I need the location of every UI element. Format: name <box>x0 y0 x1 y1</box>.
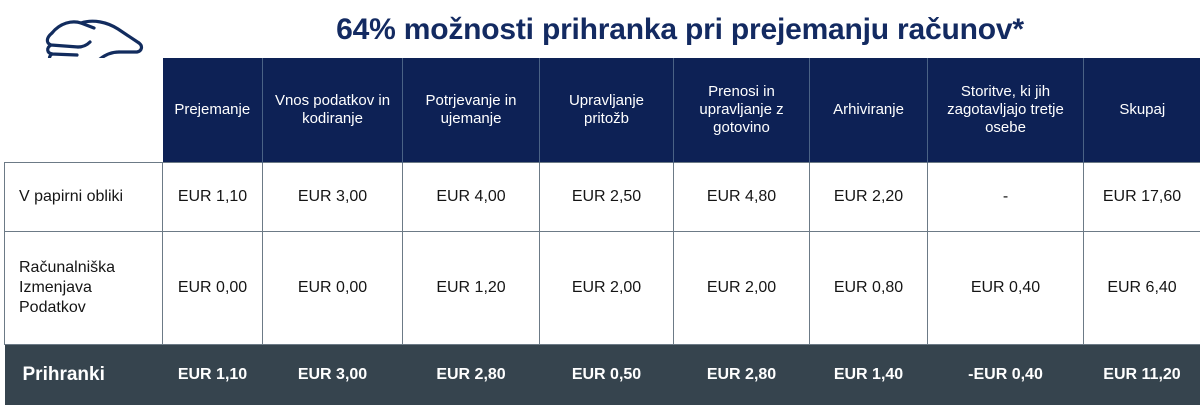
cell-prihranki-pritozbe: EUR 0,50 <box>540 345 674 405</box>
cell-prihranki-prejemanje: EUR 1,10 <box>163 345 263 405</box>
cell-prihranki-skupaj: EUR 11,20 <box>1084 345 1200 405</box>
cell-prihranki-vnos: EUR 3,00 <box>263 345 403 405</box>
table-header-row: Prejemanje Vnos podatkov in kodiranje Po… <box>5 58 1200 163</box>
header-cell-prejemanje: Prejemanje <box>163 58 263 163</box>
cell-papirna-storitve: - <box>928 163 1084 232</box>
cell-edi-prejemanje: EUR 0,00 <box>163 232 263 345</box>
cell-papirna-arhiviranje: EUR 2,20 <box>810 163 928 232</box>
cell-edi-arhiviranje: EUR 0,80 <box>810 232 928 345</box>
page-title: 64% možnosti prihranka pri prejemanju ra… <box>163 6 1197 54</box>
header-cell-arhiviranje: Arhiviranje <box>810 58 928 163</box>
cell-edi-prenosi: EUR 2,00 <box>674 232 810 345</box>
savings-table: Prejemanje Vnos podatkov in kodiranje Po… <box>4 58 1200 405</box>
cell-papirna-vnos: EUR 3,00 <box>263 163 403 232</box>
infographic-page: 64% možnosti prihranka pri prejemanju ra… <box>0 0 1200 400</box>
table-row-edi: Računalniška Izmenjava Podatkov EUR 0,00… <box>5 232 1200 345</box>
cell-prihranki-potrjevanje: EUR 2,80 <box>403 345 540 405</box>
cell-edi-potrjevanje: EUR 1,20 <box>403 232 540 345</box>
cell-edi-vnos: EUR 0,00 <box>263 232 403 345</box>
cell-papirna-potrjevanje: EUR 4,00 <box>403 163 540 232</box>
table-row-prihranki: Prihranki EUR 1,10 EUR 3,00 EUR 2,80 EUR… <box>5 345 1200 405</box>
cell-edi-pritozbe: EUR 2,00 <box>540 232 674 345</box>
header-cell-rowlabel <box>5 58 163 163</box>
cell-prihranki-arhiviranje: EUR 1,40 <box>810 345 928 405</box>
cell-papirna-skupaj: EUR 17,60 <box>1084 163 1200 232</box>
header-cell-skupaj: Skupaj <box>1084 58 1200 163</box>
header-cell-storitve-tretje-osebe: Storitve, ki jih zagotavljajo tretje ose… <box>928 58 1084 163</box>
row-label-papirna-oblika: V papirni obliki <box>5 163 163 232</box>
header-cell-potrjevanje: Potrjevanje in ujemanje <box>403 58 540 163</box>
cell-prihranki-prenosi: EUR 2,80 <box>674 345 810 405</box>
header-cell-prenosi-gotovina: Prenosi in upravljanje z gotovino <box>674 58 810 163</box>
cell-edi-skupaj: EUR 6,40 <box>1084 232 1200 345</box>
row-label-prihranki: Prihranki <box>5 345 163 405</box>
row-label-edi: Računalniška Izmenjava Podatkov <box>5 232 163 345</box>
cell-edi-storitve: EUR 0,40 <box>928 232 1084 345</box>
cell-prihranki-storitve: -EUR 0,40 <box>928 345 1084 405</box>
cell-papirna-pritozbe: EUR 2,50 <box>540 163 674 232</box>
cell-papirna-prejemanje: EUR 1,10 <box>163 163 263 232</box>
table-row-papirna-oblika: V papirni obliki EUR 1,10 EUR 3,00 EUR 4… <box>5 163 1200 232</box>
header-cell-upravljanje-pritozb: Upravljanje pritožb <box>540 58 674 163</box>
header-cell-vnos-podatkov: Vnos podatkov in kodiranje <box>263 58 403 163</box>
cell-papirna-prenosi: EUR 4,80 <box>674 163 810 232</box>
